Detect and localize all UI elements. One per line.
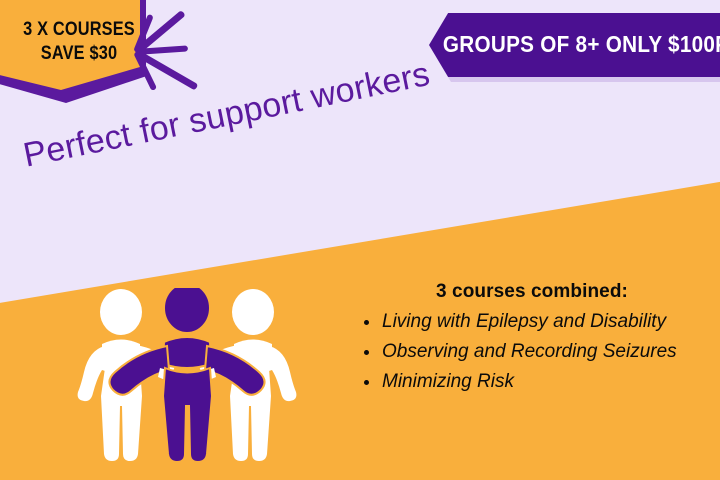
list-item: Observing and Recording Seizures xyxy=(356,337,708,367)
promotional-poster: 3 X COURSES SAVE $30 GROUPS OF 8+ ONLY $… xyxy=(0,0,720,480)
list-item: Minimizing Risk xyxy=(356,367,708,397)
course-list: Living with Epilepsy and Disability Obse… xyxy=(356,307,708,397)
list-item: Living with Epilepsy and Disability xyxy=(356,307,708,337)
offer-banner-label: 3 X COURSES SAVE $30 xyxy=(11,18,147,66)
group-ribbon-label: GROUPS OF 8+ ONLY $100PP xyxy=(443,29,693,59)
course-list-heading: 3 courses combined: xyxy=(356,281,708,303)
three-people-illustration xyxy=(72,288,302,468)
starburst-icon xyxy=(132,0,242,106)
course-list-block: 3 courses combined: Living with Epilepsy… xyxy=(356,281,708,397)
